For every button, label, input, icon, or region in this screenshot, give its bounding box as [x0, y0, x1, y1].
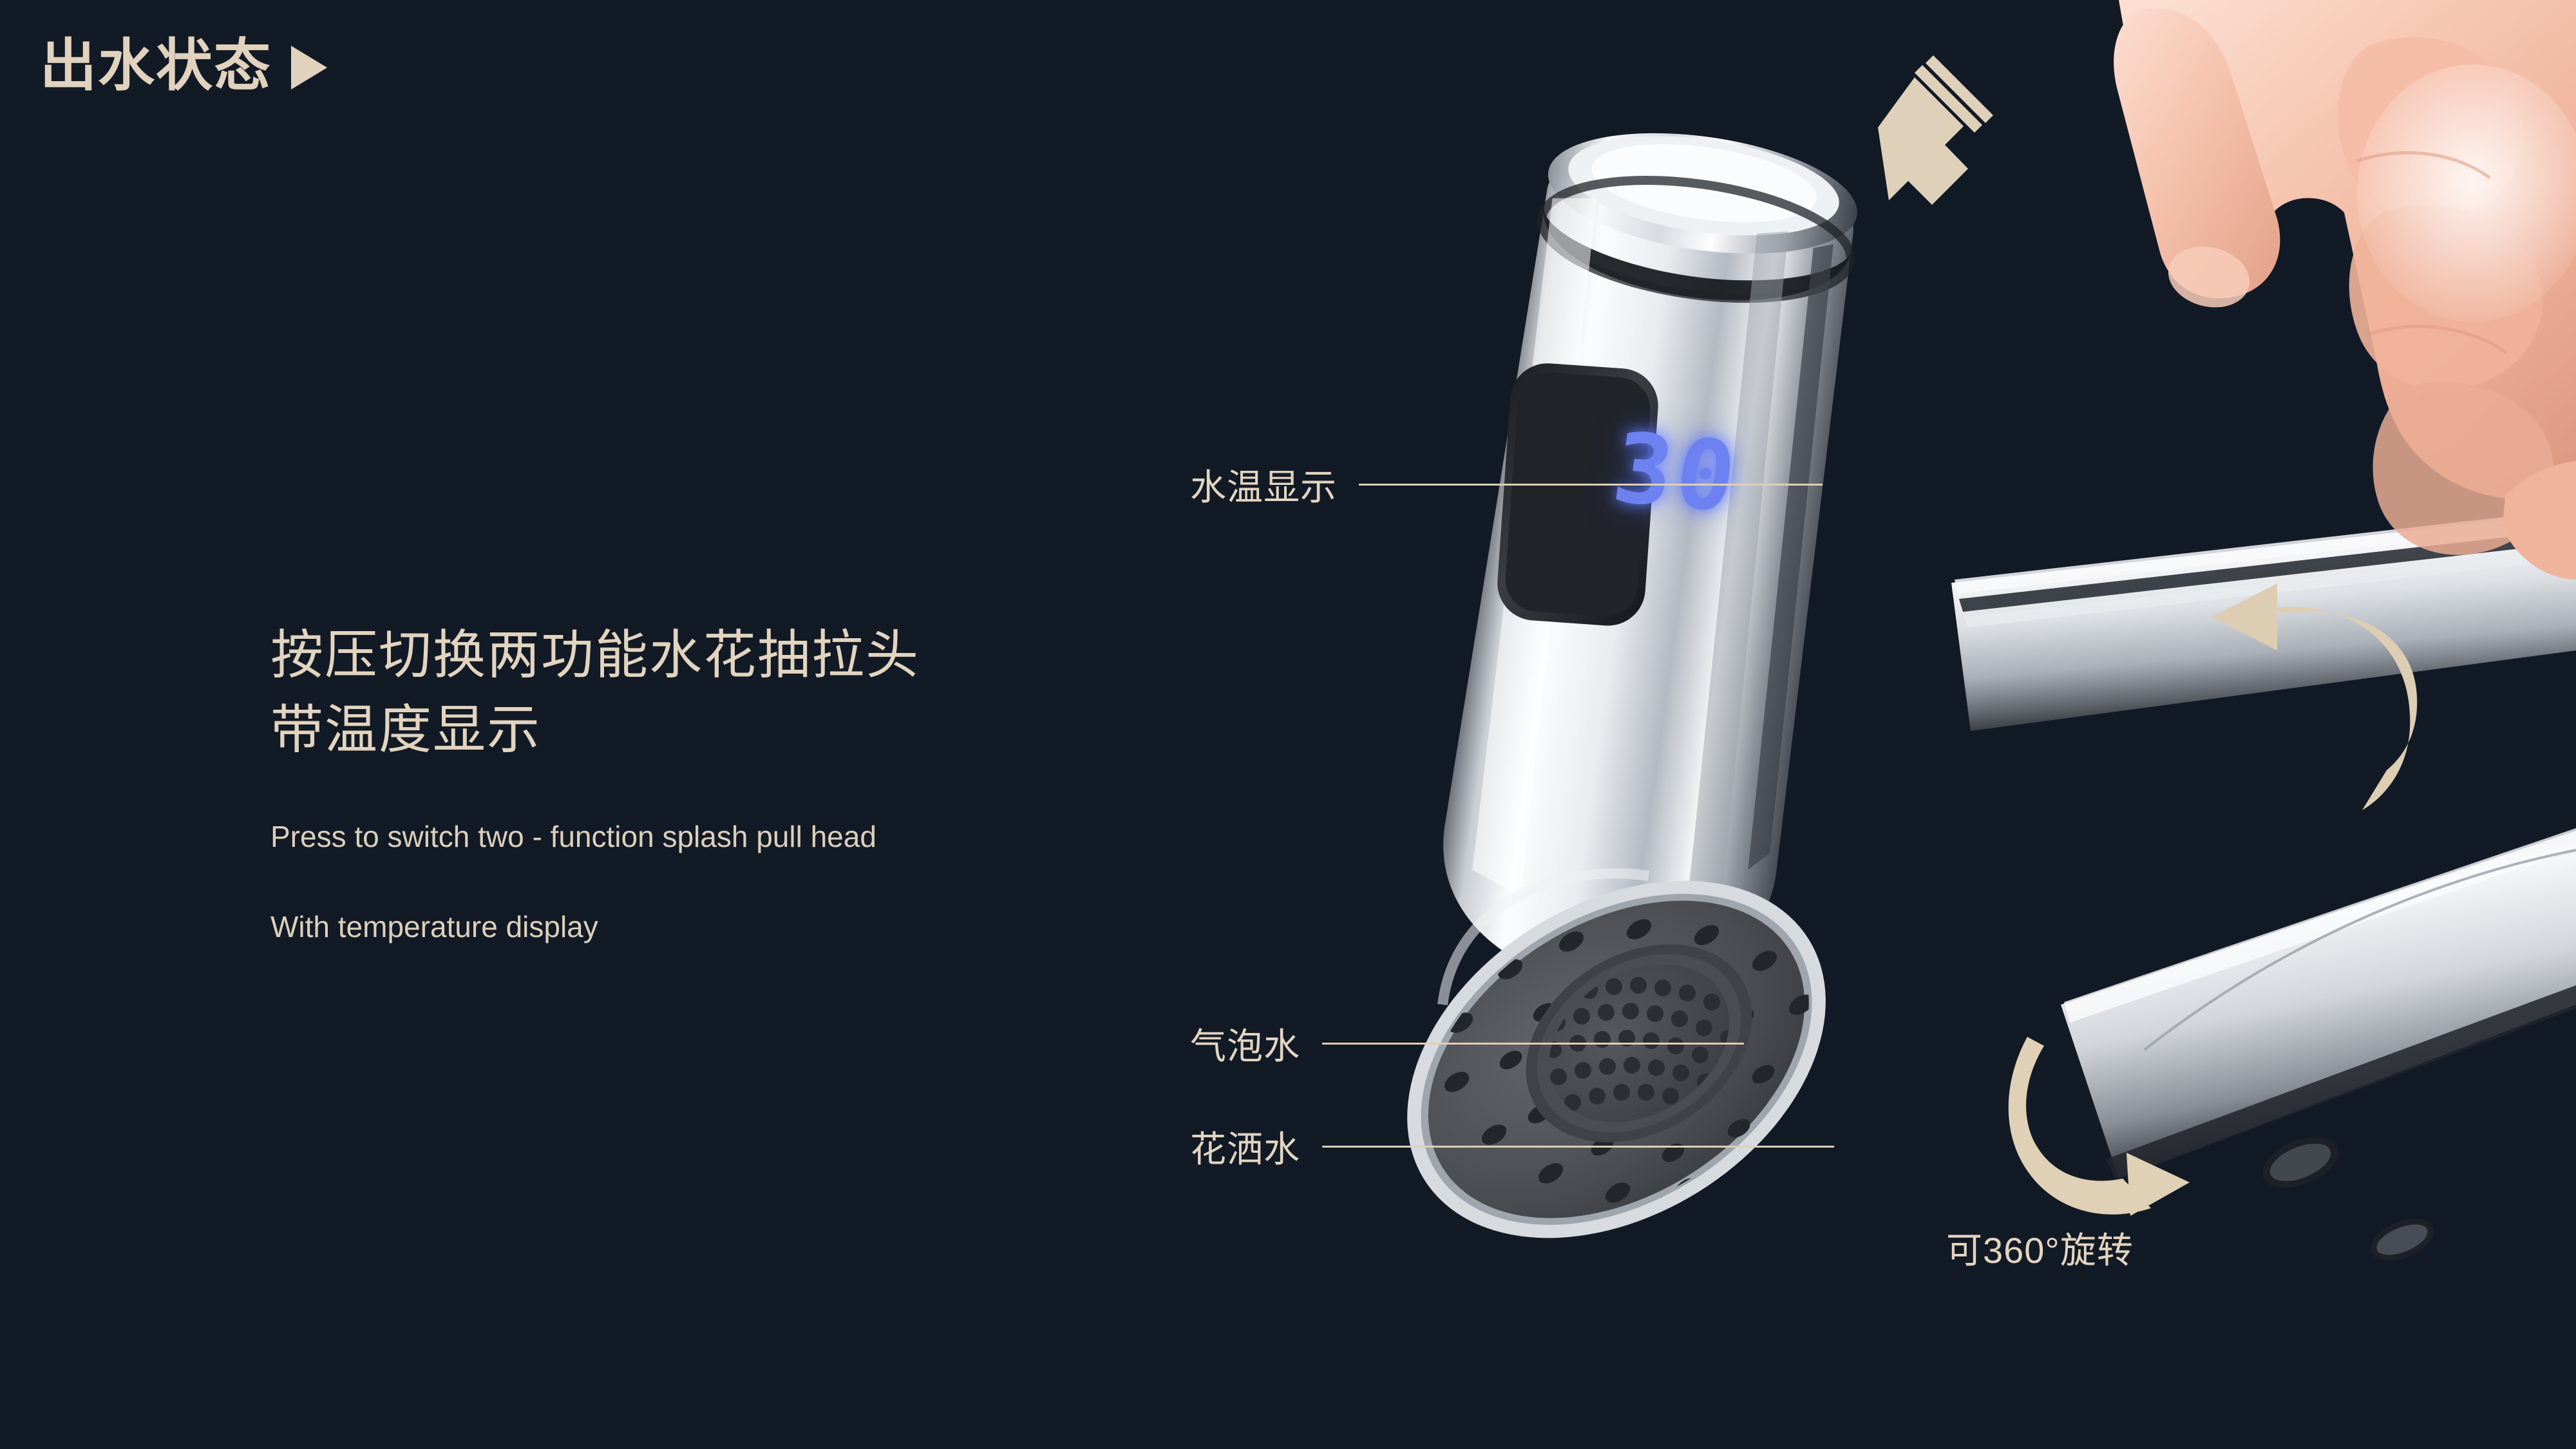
- callout-aerated-water: 气泡水: [1190, 1018, 1744, 1070]
- press-down-arrow-icon: [1878, 55, 1993, 205]
- pipe-slot-upper: [2255, 1127, 2345, 1197]
- rotate-clockwise-arrow-icon: [2009, 1037, 2190, 1216]
- rotate-counterclockwise-arrow-icon: [2211, 583, 2417, 810]
- callout-aerated-water-label: 气泡水: [1190, 1018, 1300, 1070]
- play-triangle-icon: [291, 46, 327, 90]
- slide-header: 出水状态: [40, 37, 327, 94]
- page-title: 出水状态: [40, 37, 272, 94]
- feature-subtitle-line2: With temperature display: [270, 905, 1204, 949]
- callout-shower-water: 花洒水: [1190, 1121, 1834, 1173]
- callout-leader-line: [1359, 484, 1823, 486]
- faucet-upper-arm: [1951, 509, 2576, 731]
- callout-leader-line: [1322, 1043, 1744, 1045]
- hand-pressing-icon: [2114, 0, 2576, 580]
- faucet-head: [1426, 114, 1877, 1007]
- rotation-label: 可360°旋转: [1946, 1222, 2134, 1274]
- callout-shower-water-label: 花洒水: [1190, 1121, 1300, 1173]
- callout-temperature-label: 水温显示: [1190, 459, 1337, 511]
- faucet-lower-pipe: [2061, 828, 2576, 1269]
- faucet-push-button: [1540, 115, 1865, 271]
- feature-headline-line1: 按压切换两功能水花抽拉头: [270, 618, 1204, 693]
- product-feature-slide: 30 出水状态 按压切换两功能水花抽拉头 带温度显示 Press to swit…: [0, 0, 2576, 1449]
- pipe-slot-lower: [2364, 1211, 2439, 1269]
- feature-copy-block: 按压切换两功能水花抽拉头 带温度显示 Press to switch two -…: [270, 618, 1204, 949]
- feature-headline-line2: 带温度显示: [270, 693, 1204, 768]
- feature-subtitle-line1: Press to switch two - function splash pu…: [270, 815, 1204, 858]
- callout-temperature: 水温显示: [1190, 459, 1823, 511]
- callout-leader-line: [1322, 1146, 1834, 1148]
